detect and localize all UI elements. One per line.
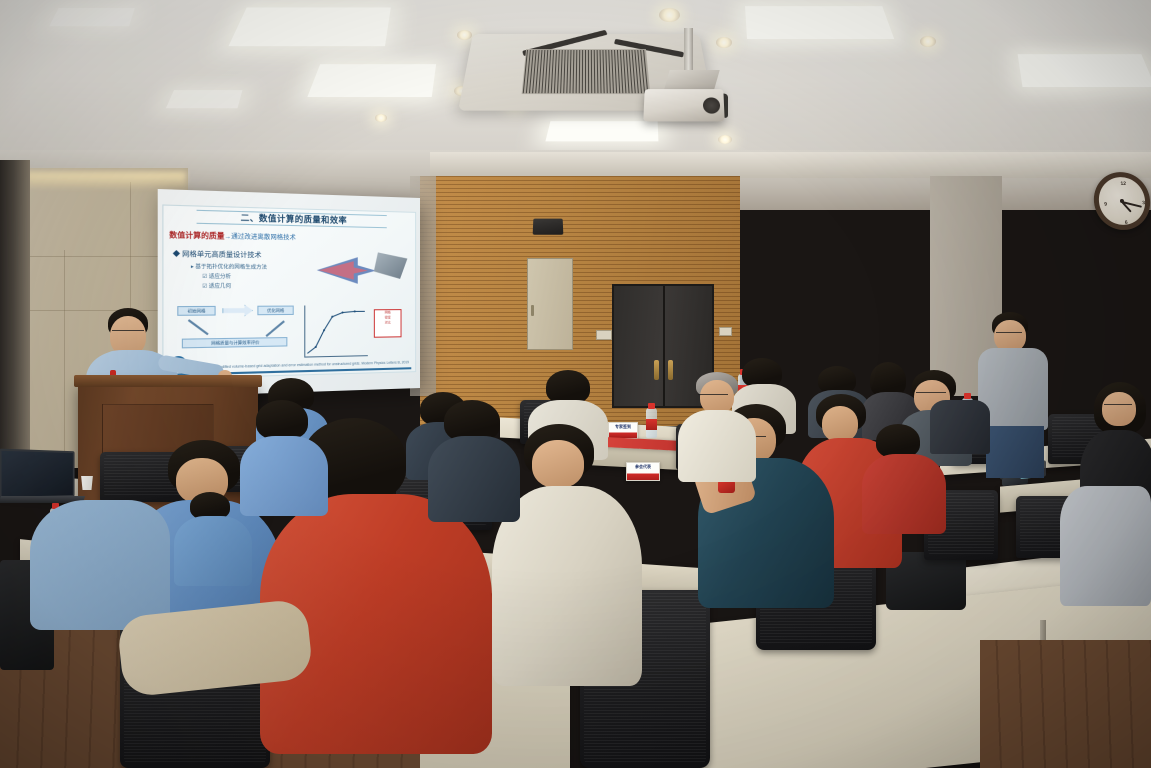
elderly-eyewear: [698, 394, 728, 397]
slide-flow-line-right: [265, 320, 284, 336]
clock-numeral-12: 12: [1120, 181, 1126, 187]
woman-right-eyewear: [1104, 404, 1132, 407]
dark-right-hair: [876, 424, 920, 458]
bottle-cap-6: [964, 393, 971, 399]
slide-flow-box-left: 初始网格: [177, 306, 215, 316]
ceiling-downlight-7: [920, 36, 936, 47]
slide-illustration-mesh: [374, 252, 408, 279]
blue-front-hair: [256, 400, 308, 440]
name-placard-1-text: 专家签到: [609, 424, 637, 430]
left-door-frame: [0, 160, 30, 490]
slide-illustration-cone: [317, 254, 376, 287]
slide-subbullet-b: ☑ 适应几何: [202, 282, 231, 290]
cove-light-strip: [26, 172, 186, 188]
slide-subbullet-head: ▸ 基于拓扑优化的网格生成方法: [191, 263, 267, 271]
wall-sign-left: [596, 330, 612, 340]
slide-flow-box-right: 优化网格: [257, 306, 293, 316]
right-grey-front-torso: [930, 400, 990, 454]
ac-grille: [521, 49, 651, 93]
ceiling-panel-light-2: [307, 64, 436, 97]
slide-title: 二、数值计算的质量和效率: [241, 212, 347, 226]
wall-seam-3: [64, 250, 65, 470]
standing-grey-jeans: [986, 426, 1044, 478]
audience-1-hair: [546, 370, 590, 404]
slide-subtitle-red: 数值计算的质量: [169, 232, 224, 241]
elderly-torso: [678, 410, 756, 482]
elderly-head: [700, 380, 734, 414]
name-placard-3-text: 参会代表: [627, 464, 659, 470]
water-bottle-4[interactable]: [646, 408, 657, 438]
slide-subtitle: 数值计算的质量→通过改进离散网格技术: [169, 230, 296, 243]
ceiling-panel-light-1: [228, 7, 390, 46]
ceiling-panel-light-6: [166, 90, 243, 108]
ceiling-panel-light-4: [545, 121, 658, 141]
slide-title-bar: 二、数值计算的质量和效率: [196, 210, 387, 228]
bottle-cap-4: [648, 403, 655, 409]
ceiling-projector: [643, 89, 724, 121]
laptop-left[interactable]: [0, 449, 75, 500]
door-handle-right[interactable]: [668, 360, 673, 380]
slide-flow-box-bottom: 网格质量与计算效率评价: [182, 337, 288, 348]
clock-center-pin: [1120, 199, 1124, 203]
center-dark-torso: [428, 436, 520, 522]
dark-right-torso: [862, 454, 946, 534]
side-door-knob: [531, 305, 534, 316]
audience-glasses-eyewear: [916, 392, 946, 395]
presenter-glasses: [112, 330, 144, 333]
ceiling-panel-light-5: [1018, 54, 1151, 87]
ceiling-panel-light-7: [49, 8, 134, 26]
slide-legend-line-3: 对比: [375, 320, 401, 325]
slide-subtitle-blue: →通过改进离散网格技术: [225, 234, 296, 242]
ceiling-downlight-6: [457, 30, 472, 40]
clock-numeral-3: 3: [1142, 200, 1145, 206]
side-door[interactable]: [527, 258, 573, 350]
bottle-label-4: [646, 419, 657, 430]
slide-subbullet-a: ☑ 适应分析: [202, 273, 231, 281]
woman-right-head: [1102, 392, 1136, 426]
blue-front-torso: [240, 436, 328, 516]
podium-top-surface: [74, 375, 262, 387]
clock-numeral-6: 6: [1125, 220, 1128, 226]
ceiling-downlight-8: [375, 114, 387, 122]
ceiling-downlight-4: [716, 37, 732, 48]
name-placard-3: 参会代表: [626, 462, 660, 481]
slide-chart: [304, 305, 368, 357]
clock-numeral-9: 9: [1104, 202, 1107, 208]
ceiling-downlight-3: [659, 8, 680, 22]
slide-legend: 网格 密度 对比: [374, 309, 402, 338]
slide-bullet-1: ◆ 网格单元高质量设计技术: [173, 247, 262, 259]
projector-lens: [703, 97, 720, 113]
khaki-front-torso: [30, 500, 170, 630]
conference-room-photo: 12 3 6 9 二、数值计算的质量和效率 数值计算的质量→通过改进离散网格技术…: [0, 0, 1151, 768]
door-handle-left[interactable]: [654, 360, 659, 380]
slide-flow-arrow: [222, 305, 253, 317]
wall-sign-right: [719, 327, 732, 336]
standing-grey-eyewear: [996, 332, 1022, 335]
floor-right: [980, 640, 1151, 768]
wall-speaker: [533, 219, 564, 235]
presentation-slide: 二、数值计算的质量和效率 数值计算的质量→通过改进离散网格技术 ◆ 网格单元高质…: [162, 204, 416, 379]
far-right-front-torso: [1060, 486, 1151, 606]
ceiling-downlight-5: [718, 135, 732, 144]
projector-mount-pole: [684, 28, 693, 74]
door-center-seam: [663, 286, 665, 406]
slide-flow-line-left: [188, 319, 209, 335]
red-shirt-head: [822, 406, 858, 442]
ceiling-panel-light-3: [745, 6, 894, 39]
light-shirt-head: [532, 440, 584, 488]
left-seated-torso: [174, 516, 252, 586]
